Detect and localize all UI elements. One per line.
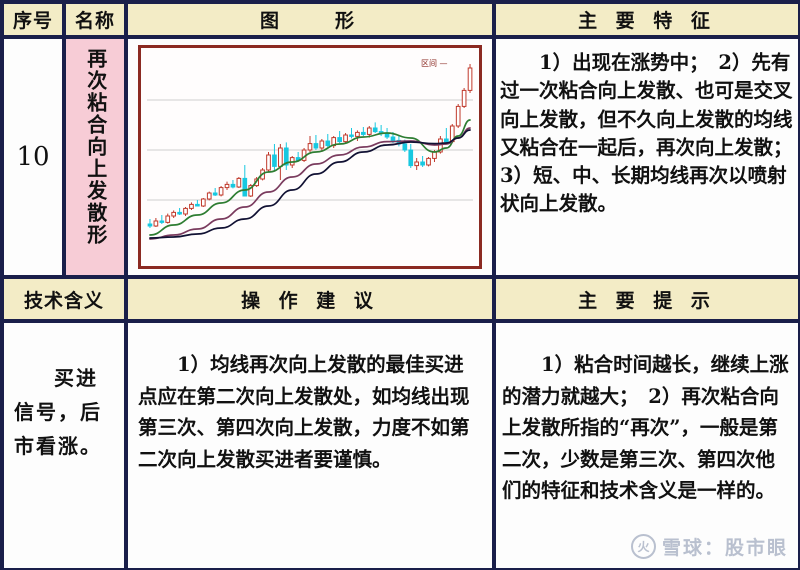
header-features-label: 主 要 特 征 bbox=[578, 6, 716, 33]
header-advice-label: 操 作 建 议 bbox=[241, 286, 379, 313]
header-graphic-label: 图 形 bbox=[260, 6, 360, 33]
header-meaning: 技术含义 bbox=[2, 277, 126, 321]
features-text-block: 1）出现在涨势中； 2）先有过一次粘合向上发散、也可是交叉向上发散，但不久向上发… bbox=[496, 39, 798, 219]
header-tips-label: 主 要 提 示 bbox=[578, 286, 716, 313]
advice-text: 1）均线再次向上发散的最佳买进点应在第二次向上发散处，如均线出现第三次、第四次向… bbox=[138, 349, 482, 475]
features-text: 1）出现在涨势中； 2）先有过一次粘合向上发散、也可是交叉向上发散，但不久向上发… bbox=[500, 49, 795, 219]
header-features: 主 要 特 征 bbox=[494, 2, 800, 37]
header-advice: 操 作 建 议 bbox=[126, 277, 494, 321]
cell-meaning: 买进信号，后市看涨。 bbox=[2, 321, 126, 570]
header-name: 名称 bbox=[64, 2, 126, 37]
pattern-card: 序号 名称 图 形 主 要 特 征 10 再次粘合向上发散形 区间 — 1）出现… bbox=[0, 0, 800, 570]
meaning-text: 买进信号，后市看涨。 bbox=[14, 361, 116, 463]
candlestick-chart: 区间 — bbox=[138, 45, 482, 269]
cell-tips: 1）粘合时间越长，继续上涨的潜力就越大； 2）再次粘合向上发散所指的“再次”，一… bbox=[494, 321, 800, 570]
header-tips: 主 要 提 示 bbox=[494, 277, 800, 321]
cell-advice: 1）均线再次向上发散的最佳买进点应在第二次向上发散处，如均线出现第三次、第四次向… bbox=[126, 321, 494, 570]
chart-svg: 区间 — bbox=[141, 48, 479, 266]
header-meaning-label: 技术含义 bbox=[24, 286, 104, 313]
cell-pattern-name: 再次粘合向上发散形 bbox=[64, 37, 126, 277]
header-graphic: 图 形 bbox=[126, 2, 494, 37]
svg-text:区间 —: 区间 — bbox=[421, 59, 448, 68]
cell-sequence-number: 10 bbox=[2, 37, 64, 277]
tips-text-block: 1）粘合时间越长，继续上涨的潜力就越大； 2）再次粘合向上发散所指的“再次”，一… bbox=[496, 323, 798, 507]
cell-features: 1）出现在涨势中； 2）先有过一次粘合向上发散、也可是交叉向上发散，但不久向上发… bbox=[494, 37, 800, 277]
header-sequence: 序号 bbox=[2, 2, 64, 37]
header-sequence-label: 序号 bbox=[13, 6, 53, 33]
advice-text-block: 1）均线再次向上发散的最佳买进点应在第二次向上发散处，如均线出现第三次、第四次向… bbox=[128, 323, 492, 475]
header-name-label: 名称 bbox=[75, 6, 115, 33]
meaning-text-block: 买进信号，后市看涨。 bbox=[4, 323, 124, 463]
pattern-name-vertical: 再次粘合向上发散形 bbox=[83, 39, 107, 246]
tips-text: 1）粘合时间越长，继续上涨的潜力就越大； 2）再次粘合向上发散所指的“再次”，一… bbox=[502, 349, 792, 507]
cell-chart: 区间 — bbox=[126, 37, 494, 277]
sequence-number: 10 bbox=[16, 142, 49, 172]
